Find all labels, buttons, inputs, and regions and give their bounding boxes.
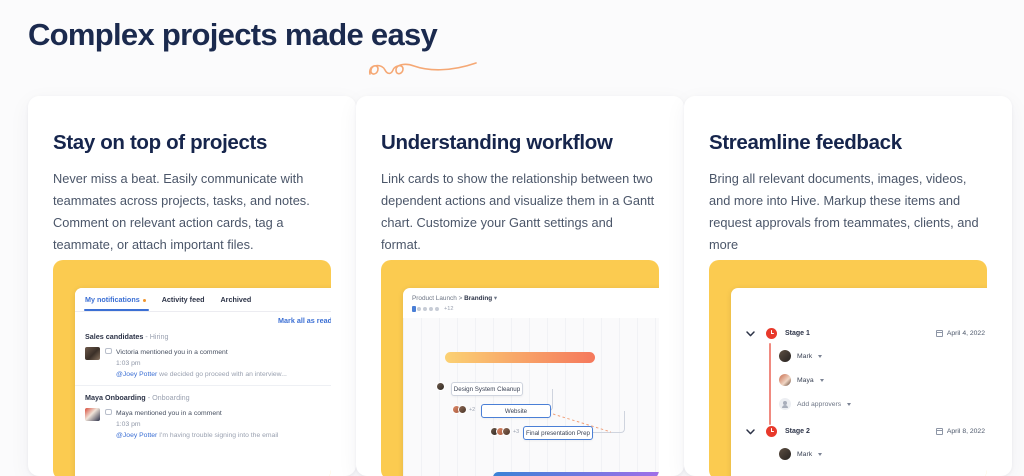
mention-link[interactable]: @Joey Potter (116, 371, 157, 378)
card-body: Bring all relevant documents, images, vi… (709, 168, 984, 256)
feature-cards: Stay on top of projects Never miss a bea… (0, 96, 1024, 476)
group-name: Sales candidates (85, 332, 143, 341)
comment-icon (105, 409, 112, 415)
breadcrumb-current[interactable]: Branding (464, 295, 492, 302)
notification-time: 1:03 pm (116, 358, 331, 369)
tab-my-notifications[interactable]: My notifications (85, 295, 146, 304)
stage-name: Stage 2 (785, 428, 810, 435)
group-title: Sales candidates - Hiring (85, 332, 331, 341)
tab-archived[interactable]: Archived (220, 295, 251, 304)
clock-icon (766, 426, 777, 437)
group-title: Maya Onboarding - Onboarding (85, 393, 331, 402)
notification-snippet: @Joey Potter I'm having trouble signing … (116, 430, 331, 441)
chevron-down-icon[interactable] (818, 355, 822, 358)
notification-snippet: @Joey Potter we decided go proceed with … (116, 369, 331, 380)
card-media-gantt: Product Launch > Branding ▾ +12 (381, 260, 659, 476)
chevron-down-icon[interactable] (745, 328, 756, 339)
calendar-icon (936, 330, 943, 337)
breadcrumb-separator: > (459, 295, 463, 302)
card-media-notifications: My notifications Activity feed Archived … (53, 260, 331, 476)
chevron-down-icon[interactable] (847, 403, 851, 406)
notification-text: Maya mentioned you in a comment (116, 408, 331, 419)
tab-activity-feed[interactable]: Activity feed (162, 295, 205, 304)
notification-text: Victoria mentioned you in a comment (116, 347, 331, 358)
task-avatars[interactable]: +2 (455, 405, 475, 414)
avatar (434, 306, 440, 312)
heading-section: Complex projects made easy (28, 16, 437, 55)
approver-name: Mark (797, 353, 812, 360)
avatar (436, 382, 445, 391)
notification-content: Victoria mentioned you in a comment 1:03… (116, 347, 331, 381)
avatar (779, 448, 791, 460)
clock-icon (766, 328, 777, 339)
snippet-text: I'm having trouble signing into the emai… (159, 432, 278, 439)
breadcrumb-root[interactable]: Product Launch (412, 295, 457, 302)
card-title: Streamline feedback (709, 131, 902, 155)
mention-link[interactable]: @Joey Potter (116, 432, 157, 439)
avatar (779, 374, 791, 386)
stage-date-label: April 8, 2022 (947, 428, 985, 435)
avatar (502, 427, 511, 436)
avatar-overflow-count: +2 (469, 407, 475, 413)
task-avatars[interactable] (439, 382, 445, 391)
approver-name: Mark (797, 451, 812, 458)
card-body: Link cards to show the relationship betw… (381, 168, 656, 256)
chevron-down-icon[interactable] (818, 453, 822, 456)
avatar-overflow-count: +3 (513, 429, 519, 435)
notification-group: Sales candidates - Hiring Victoria menti… (75, 332, 331, 381)
notifications-tabs: My notifications Activity feed Archived (75, 288, 331, 312)
task-card-final-presentation-prep[interactable]: Final presentation Prep (523, 426, 593, 440)
avatar (779, 350, 791, 362)
stage-name: Stage 1 (785, 330, 810, 337)
card-title: Stay on top of projects (53, 131, 267, 155)
gantt-bar-bottom[interactable] (493, 472, 659, 476)
task-card-design-system-cleanup[interactable]: Design System Cleanup (451, 382, 523, 396)
card-stay-on-top-of-projects: Stay on top of projects Never miss a bea… (28, 96, 356, 476)
stage-timeline (769, 343, 771, 425)
chevron-down-icon[interactable] (745, 426, 756, 437)
notification-group: Maya Onboarding - Onboarding Maya mentio… (75, 385, 331, 442)
notifications-panel: My notifications Activity feed Archived … (75, 288, 331, 476)
approver-row[interactable]: Maya (779, 374, 824, 386)
card-body: Never miss a beat. Easily communicate wi… (53, 168, 328, 256)
card-media-approvals: Stage 1 April 4, 2022 Mark Maya (709, 260, 987, 476)
card-understanding-workflow: Understanding workflow Link cards to sho… (356, 96, 684, 476)
breadcrumb[interactable]: Product Launch > Branding ▾ (412, 294, 497, 302)
snippet-text: we decided go proceed with an interview.… (159, 371, 287, 378)
tab-label: My notifications (85, 295, 140, 304)
approver-name: Maya (797, 377, 814, 384)
avatar (85, 347, 100, 360)
gantt-panel: Product Launch > Branding ▾ +12 (403, 288, 659, 476)
add-approvers-label: Add approvers (797, 401, 841, 408)
gantt-chart-area: Design System Cleanup +2 Website +3 (403, 318, 659, 476)
stage-date[interactable]: April 4, 2022 (936, 330, 985, 337)
page-title: Complex projects made easy (28, 16, 437, 55)
stage-row[interactable]: Stage 2 April 8, 2022 (745, 426, 985, 437)
stage-row[interactable]: Stage 1 April 4, 2022 (745, 328, 985, 339)
stage-date-label: April 4, 2022 (947, 330, 985, 337)
group-subtitle: - Hiring (145, 332, 168, 341)
avatar (458, 405, 467, 414)
chevron-down-icon[interactable]: ▾ (494, 295, 497, 302)
approver-row[interactable]: Mark (779, 448, 822, 460)
stage-date[interactable]: April 8, 2022 (936, 428, 985, 435)
card-title: Understanding workflow (381, 131, 612, 155)
unread-dot-icon (143, 299, 146, 302)
list-item[interactable]: Maya mentioned you in a comment 1:03 pm … (85, 408, 331, 442)
gantt-avatars[interactable]: +12 (412, 306, 454, 312)
group-name: Maya Onboarding (85, 393, 146, 402)
avatar (85, 408, 100, 421)
squiggle-underline-icon (358, 56, 488, 82)
avatar-overflow-count: +12 (444, 306, 454, 312)
calendar-icon (936, 428, 943, 435)
group-subtitle: - Onboarding (148, 393, 190, 402)
notification-time: 1:03 pm (116, 419, 331, 430)
mark-all-as-read-link[interactable]: Mark all as read (278, 316, 331, 325)
approver-row[interactable]: Mark (779, 350, 822, 362)
chevron-down-icon[interactable] (820, 379, 824, 382)
task-card-website[interactable]: Website (481, 404, 551, 418)
list-item[interactable]: Victoria mentioned you in a comment 1:03… (85, 347, 331, 381)
notification-content: Maya mentioned you in a comment 1:03 pm … (116, 408, 331, 442)
card-streamline-feedback: Streamline feedback Bring all relevant d… (684, 96, 1012, 476)
page-root: Complex projects made easy Stay on top o… (0, 0, 1024, 476)
approvals-panel: Stage 1 April 4, 2022 Mark Maya (731, 288, 987, 476)
add-approvers-row[interactable]: Add approvers (779, 398, 851, 410)
task-avatars[interactable]: +3 (493, 427, 519, 436)
gantt-bar-top[interactable] (445, 352, 595, 363)
person-add-icon (779, 398, 791, 410)
comment-icon (105, 348, 112, 354)
